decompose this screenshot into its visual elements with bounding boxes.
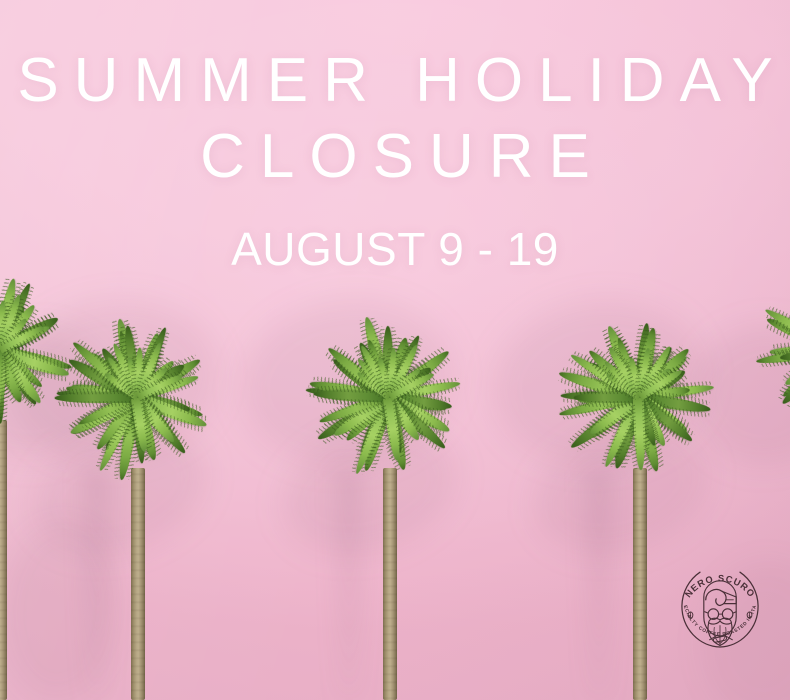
poster-canvas: SUMMER HOLIDAY CLOSURE AUGUST 9 - 19 [0,0,790,700]
nero-scuro-logo: NERO SCURO SPECIALTY COFFEE ROASTED IN I… [672,556,768,656]
palm-frond [633,397,647,470]
svg-text:SPECIALTY COFFEE ROASTED IN IT: SPECIALTY COFFEE ROASTED IN ITALY [672,556,758,638]
closure-date-range: AUGUST 9 - 19 [0,226,790,272]
headline-line-1: SUMMER HOLIDAY [0,50,790,112]
logo-arc-bottom-text: SPECIALTY COFFEE ROASTED IN ITALY [672,556,758,638]
headline-line-2: CLOSURE [0,126,790,188]
